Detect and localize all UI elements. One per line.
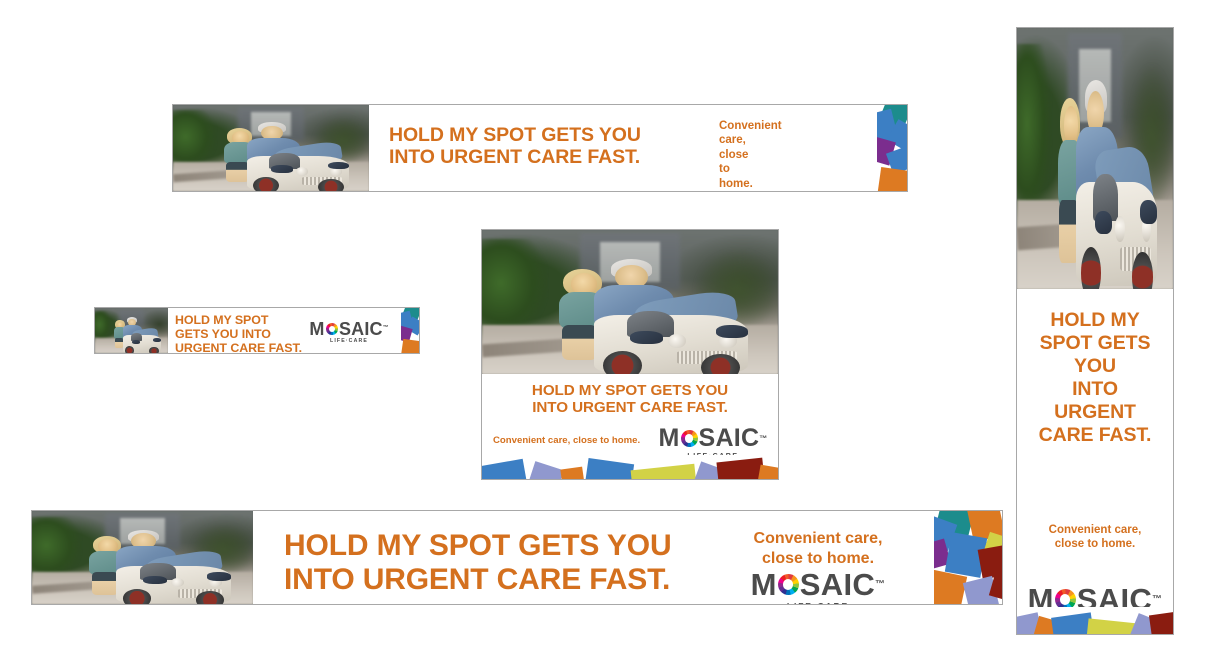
logo-letters-saic: SAIC <box>699 426 760 451</box>
brand-block: Convenient care, close to home. M SAIC ™… <box>719 119 871 192</box>
headline-line: HOLD MY SPOT GETS YOU <box>389 125 641 147</box>
headline-line: URGENT CARE FAST. <box>175 342 302 354</box>
trademark-icon: ™ <box>759 435 767 443</box>
ad-tagline: Convenient care, close to home. <box>722 529 914 569</box>
mosaic-pattern-strip <box>482 455 778 479</box>
mosaic-ring-icon <box>778 574 799 595</box>
headline-line: INTO URGENT CARE FAST. <box>482 399 778 416</box>
lifestyle-photo <box>1017 28 1173 289</box>
mosaic-pattern-block <box>934 511 1002 604</box>
ad-headline: HOLD MY SPOT GETS YOU INTO URGENT CARE F… <box>175 314 302 354</box>
headline-line: CARE FAST. <box>1017 424 1173 447</box>
headline-line: URGENT <box>1017 401 1173 424</box>
headline-line: HOLD MY SPOT GETS YOU <box>482 382 778 399</box>
logo-letter-m: M <box>309 320 324 338</box>
logo-letter-m: M <box>658 426 679 451</box>
headline-line: INTO URGENT CARE FAST. <box>284 563 671 597</box>
logo-letters-saic: SAIC <box>339 320 383 338</box>
mosaic-ring-icon <box>681 430 698 447</box>
headline-line: GETS YOU INTO <box>175 328 302 342</box>
tagline-line: close to home. <box>1017 537 1173 551</box>
mosaic-pattern-strip <box>1017 607 1173 634</box>
logo-letters-saic: SAIC <box>800 569 875 600</box>
headline-line: HOLD MY SPOT <box>175 314 302 328</box>
headline-line: YOU <box>1017 355 1173 378</box>
tagline-line: Convenient care, <box>722 529 914 549</box>
headline-line: SPOT GETS <box>1017 332 1173 355</box>
logo-letters-saic: SAIC <box>780 191 846 192</box>
mosaic-logo[interactable]: M SAIC ™ LIFE·CARE <box>751 569 886 605</box>
lifestyle-photo <box>95 308 168 353</box>
tagline-line: close to home. <box>722 549 914 569</box>
ad-mobile-banner-320x50[interactable]: HOLD MY SPOT GETS YOU INTO URGENT CARE F… <box>94 307 420 354</box>
logo-subtitle: LIFE·CARE <box>751 602 886 605</box>
brand-block: Convenient care, close to home. M SAIC ™… <box>722 529 914 605</box>
ad-skyscraper-160x600[interactable]: HOLD MY SPOT GETS YOU INTO URGENT CARE F… <box>1016 27 1174 635</box>
trademark-icon: ™ <box>1152 595 1162 605</box>
brand-block: M SAIC ™ LIFE·CARE <box>301 320 397 347</box>
lifestyle-photo <box>32 511 253 604</box>
lifestyle-photo <box>173 105 369 191</box>
logo-letter-m: M <box>751 569 777 600</box>
headline-line: HOLD MY SPOT GETS YOU <box>284 529 671 563</box>
ad-headline: HOLD MY SPOT GETS YOU INTO URGENT CARE F… <box>389 125 641 169</box>
lifestyle-photo <box>482 230 778 374</box>
logo-subtitle: LIFE·CARE <box>309 339 388 344</box>
ad-tagline: Convenient care, close to home. <box>1017 523 1173 552</box>
ad-tagline: Convenient care, close to home. <box>493 435 640 447</box>
mosaic-pattern-strip <box>877 105 907 191</box>
ad-medium-rectangle-300x250[interactable]: HOLD MY SPOT GETS YOU INTO URGENT CARE F… <box>481 229 779 480</box>
mosaic-ring-icon <box>326 323 339 336</box>
mosaic-logo[interactable]: M SAIC ™ LIFE·CARE <box>309 320 388 344</box>
trademark-icon: ™ <box>875 580 885 590</box>
logo-letter-m: M <box>736 191 759 192</box>
headline-line: INTO URGENT CARE FAST. <box>389 147 641 169</box>
mosaic-logo[interactable]: M SAIC ™ LIFE·CARE <box>736 191 854 192</box>
headline-line: INTO <box>1017 378 1173 401</box>
tagline-line: Convenient care, <box>1017 523 1173 537</box>
ad-leaderboard-728x90[interactable]: HOLD MY SPOT GETS YOU INTO URGENT CARE F… <box>172 104 908 192</box>
headline-line: HOLD MY <box>1017 309 1173 332</box>
ad-headline: HOLD MY SPOT GETS YOU INTO URGENT CARE F… <box>1017 309 1173 447</box>
trademark-icon: ™ <box>383 326 389 332</box>
mosaic-pattern-strip <box>401 308 419 353</box>
ad-billboard-970x90[interactable]: HOLD MY SPOT GETS YOU INTO URGENT CARE F… <box>31 510 1003 605</box>
ad-headline: HOLD MY SPOT GETS YOU INTO URGENT CARE F… <box>284 529 671 596</box>
ad-headline: HOLD MY SPOT GETS YOU INTO URGENT CARE F… <box>482 382 778 416</box>
